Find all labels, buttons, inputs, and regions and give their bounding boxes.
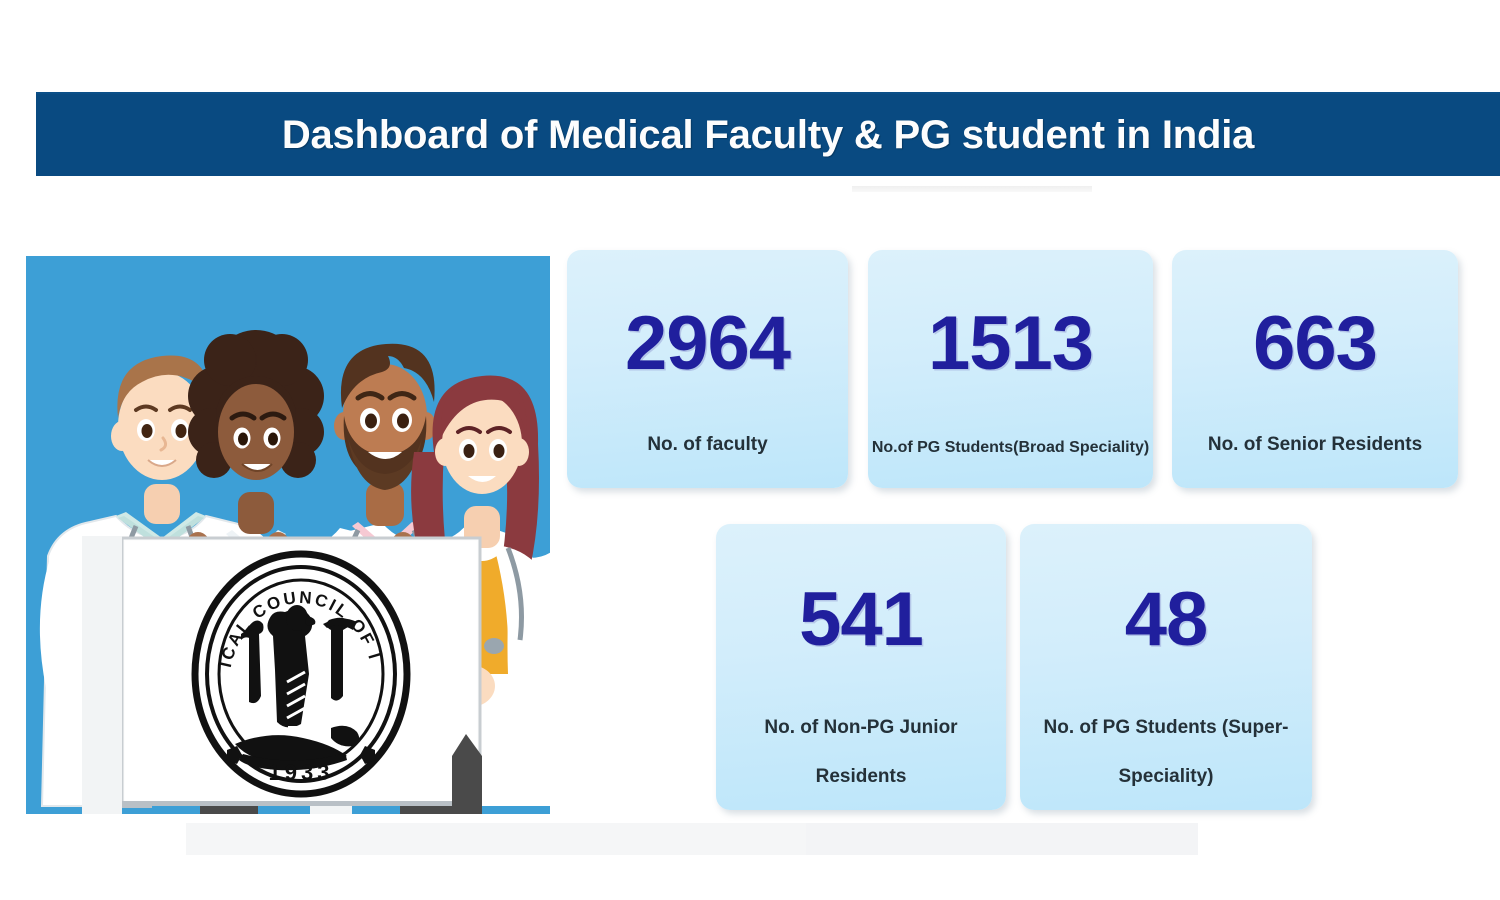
stat-card-faculty[interactable]: 2964 No. of faculty <box>567 250 848 488</box>
stat-label: No. of PG Students (Super- Speciality) <box>1029 703 1303 802</box>
seal-year: 1933 <box>269 760 334 785</box>
stat-value: 541 <box>799 582 923 658</box>
stat-value: 48 <box>1125 582 1208 658</box>
doctors-group-illustration: MEDICAL COUNCIL OF INDIA <box>26 256 550 814</box>
stat-value: 2964 <box>625 306 790 382</box>
stat-card-senior-residents[interactable]: 663 No. of Senior Residents <box>1172 250 1458 488</box>
dashboard-page: Dashboard of Medical Faculty & PG studen… <box>0 0 1500 900</box>
stat-label: No. of Non-PG Junior Residents <box>725 703 998 802</box>
page-title: Dashboard of Medical Faculty & PG studen… <box>282 113 1254 158</box>
stat-label: No. of faculty <box>647 435 767 456</box>
mci-signboard: MEDICAL COUNCIL OF INDIA <box>122 538 480 806</box>
stat-label-line2: Speciality) <box>1029 752 1303 801</box>
stat-label-line1: No. of Non-PG Junior <box>725 703 998 752</box>
medical-council-illustration: MEDICAL COUNCIL OF INDIA <box>26 256 550 814</box>
background-panel-bottom-overlay <box>806 823 1198 855</box>
stat-card-non-pg-junior-residents[interactable]: 541 No. of Non-PG Junior Residents <box>716 524 1006 810</box>
stat-value: 663 <box>1253 306 1377 382</box>
stat-label-line1: No. of PG Students (Super- <box>1029 703 1303 752</box>
background-panel-edge-top <box>852 186 1092 192</box>
header-banner: Dashboard of Medical Faculty & PG studen… <box>36 94 1500 176</box>
stat-value: 1513 <box>928 306 1093 382</box>
stat-card-pg-students-broad-speciality[interactable]: 1513 No.of PG Students(Broad Speciality) <box>868 250 1153 488</box>
stat-label: No. of Senior Residents <box>1208 435 1422 456</box>
stat-card-pg-students-super-speciality[interactable]: 48 No. of PG Students (Super- Speciality… <box>1020 524 1312 810</box>
stat-label-line2: Residents <box>725 752 998 801</box>
stat-label: No.of PG Students(Broad Speciality) <box>872 439 1149 457</box>
